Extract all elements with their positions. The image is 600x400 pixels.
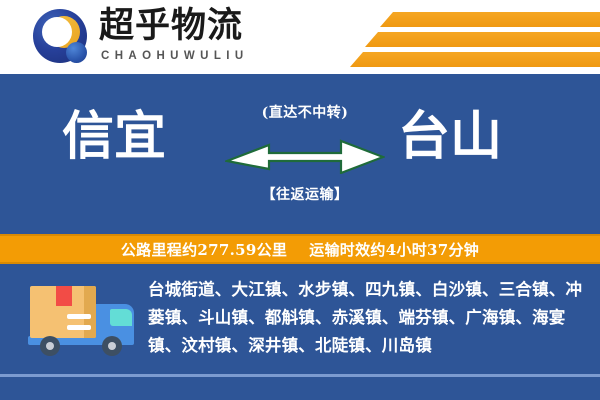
truck-window-shape [110, 309, 132, 326]
logistics-route-banner: 超乎物流 CHAOHUWULIU 信宜 (直达不中转) 【往返运输】 台山 公路… [0, 0, 600, 400]
truck-cargo-tape-shape [56, 286, 72, 306]
route-section: 信宜 (直达不中转) 【往返运输】 台山 [0, 74, 600, 234]
stripe-2 [365, 32, 600, 47]
logo-dot-shape [66, 42, 87, 63]
truck-label-line-2 [67, 325, 91, 330]
logo-inner-hole-shape [42, 17, 72, 47]
bidirectional-arrow-icon [225, 132, 385, 176]
route-info-bar: 公路里程约277.59公里 运输时效约4小时37分钟 [0, 234, 600, 264]
truck-wheel-rear [40, 336, 60, 356]
truck-cargo-shade-shape [84, 286, 96, 338]
round-trip-note: 【往返运输】 [225, 184, 385, 204]
stripe-3 [350, 52, 600, 67]
brand-name-cn: 超乎物流 [99, 6, 243, 46]
delivery-truck-icon [22, 278, 138, 360]
destination-city: 台山 [398, 106, 502, 168]
direct-shipping-note: (直达不中转) [225, 102, 385, 122]
banner-header: 超乎物流 CHAOHUWULIU [0, 0, 600, 74]
distance-text: 公路里程约277.59公里 [121, 239, 287, 260]
stripe-1 [380, 12, 600, 27]
coverage-section: 台城街道、大江镇、水步镇、四九镇、白沙镇、三合镇、冲蒌镇、斗山镇、都斛镇、赤溪镇… [0, 264, 600, 374]
truck-label-line-1 [67, 314, 91, 319]
coverage-towns-list: 台城街道、大江镇、水步镇、四九镇、白沙镇、三合镇、冲蒌镇、斗山镇、都斛镇、赤溪镇… [148, 276, 584, 360]
origin-city: 信宜 [62, 106, 166, 168]
truck-wheel-front [102, 336, 122, 356]
route-middle-group: (直达不中转) 【往返运输】 [225, 102, 385, 222]
brand-name-en: CHAOHUWULIU [101, 50, 249, 62]
duration-text: 运输时效约4小时37分钟 [309, 239, 479, 260]
decorative-stripes [300, 12, 600, 68]
chaohu-q-logo-icon [33, 9, 91, 67]
banner-footer [0, 377, 600, 400]
